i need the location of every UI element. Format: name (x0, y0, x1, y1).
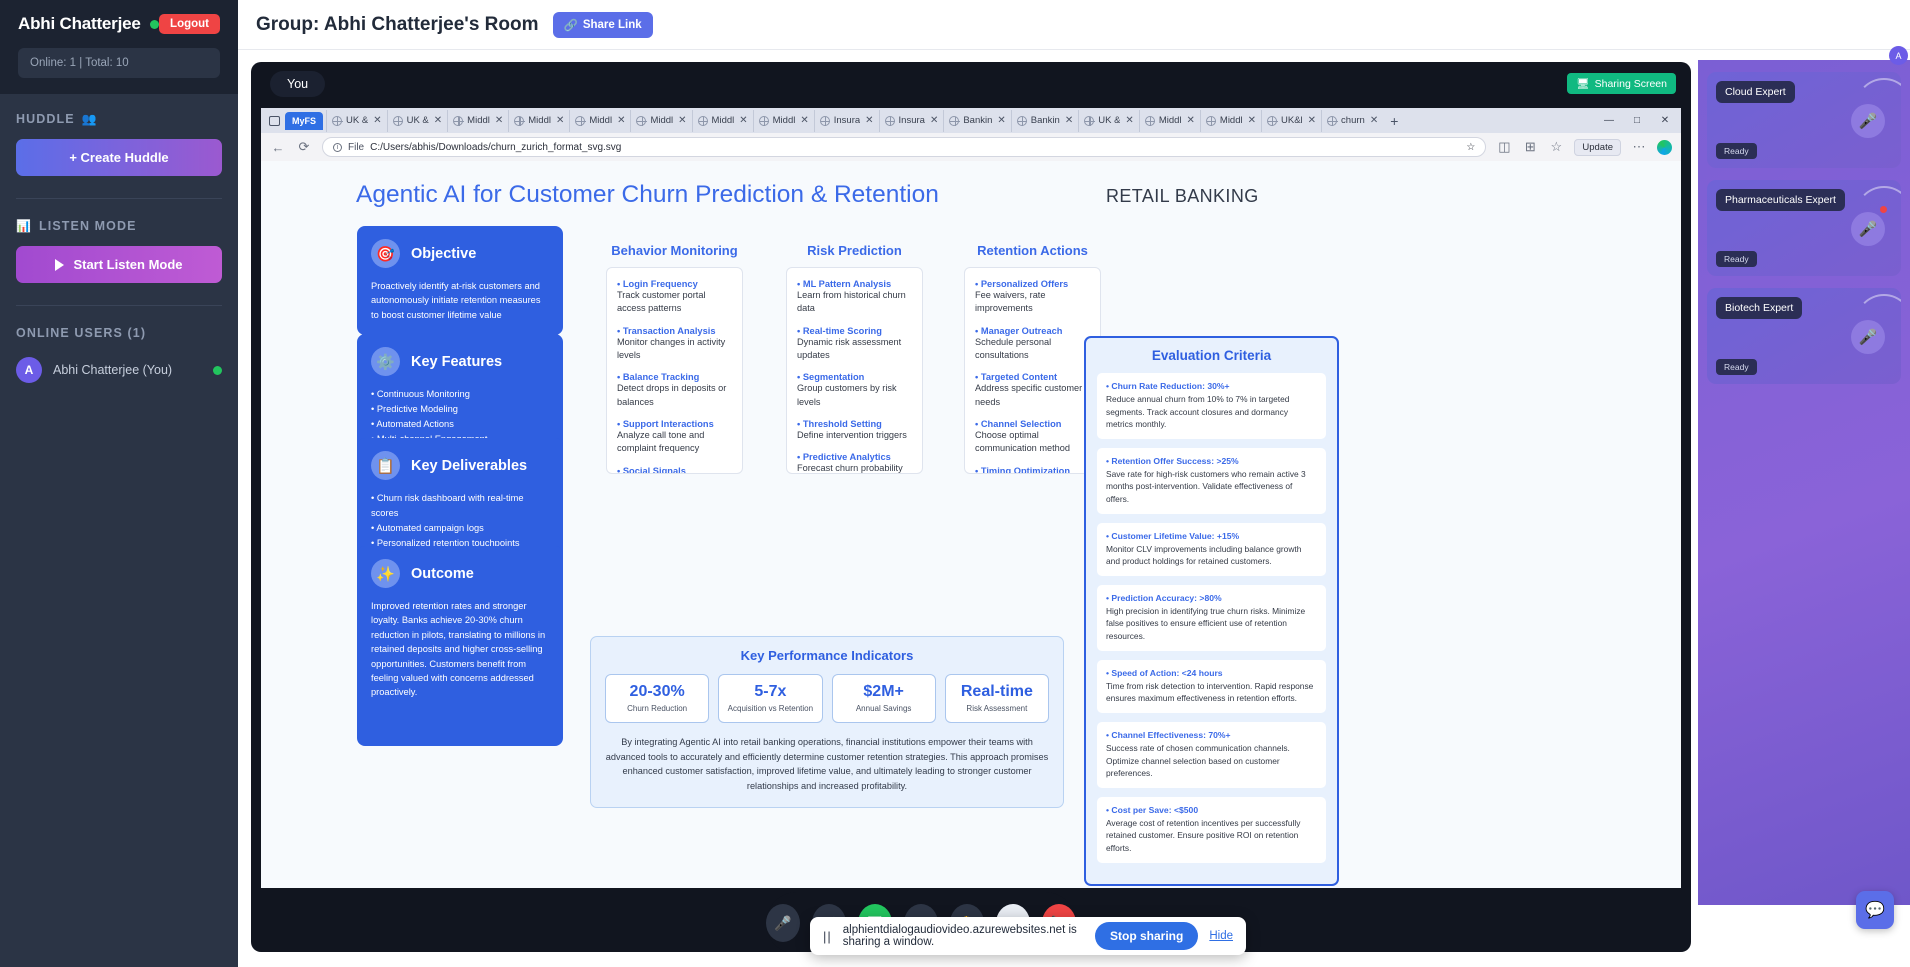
close-icon[interactable]: ✕ (800, 115, 808, 126)
globe-icon (820, 116, 830, 126)
avatar: A (16, 357, 42, 383)
evaluation-item: • Channel Effectiveness: 70%+Success rat… (1097, 722, 1326, 788)
browser-tab[interactable]: UK &✕ (1078, 110, 1139, 132)
expert-name: Biotech Expert (1716, 297, 1802, 319)
window-minimize-button[interactable]: — (1595, 115, 1623, 126)
kpi-label: Churn Reduction (608, 704, 706, 713)
close-icon[interactable]: ✕ (1187, 115, 1195, 126)
close-icon[interactable]: ✕ (495, 115, 503, 126)
evaluation-item-head: • Churn Rate Reduction: 30%+ (1106, 381, 1317, 391)
info-card-body: Improved retention rates and stronger lo… (371, 599, 549, 700)
category-item-desc: Analyze call tone and complaint frequenc… (617, 429, 732, 456)
listen-mode-section-header: 📊 LISTEN MODE (16, 219, 222, 233)
current-user-name: Abhi Chatterjee (18, 14, 141, 34)
kpi-panel: Key Performance Indicators 20-30%Churn R… (590, 636, 1064, 808)
category-item-head: • Login Frequency (617, 279, 732, 289)
category-title: Retention Actions (964, 243, 1101, 258)
evaluation-title: Evaluation Criteria (1097, 348, 1326, 363)
globe-icon (1145, 116, 1155, 126)
category-item-desc: Learn from historical churn data (797, 289, 912, 316)
main-area: Group: Abhi Chatterjee's Room 🔗 Share Li… (238, 0, 1910, 967)
category-item-head: • Social Signals (617, 466, 732, 474)
browser-tab[interactable]: Middl✕ (692, 110, 753, 132)
video-stage: You 🖥 Sharing Screen MyFS UK &✕UK &✕Midd… (251, 62, 1691, 952)
evaluation-item-head: • Retention Offer Success: >25% (1106, 456, 1317, 466)
kpi-footer-text: By integrating Agentic AI into retail ba… (605, 735, 1049, 793)
people-icon: 👥 (82, 112, 98, 126)
info-card: 🎯ObjectiveProactively identify at-risk c… (357, 226, 563, 335)
browser-tab[interactable]: Insura✕ (879, 110, 944, 132)
kpi-box: $2M+Annual Savings (832, 674, 936, 723)
address-bar[interactable]: i File C:/Users/abhis/Downloads/churn_zu… (322, 137, 1486, 157)
experts-rail: Cloud Expert🎤ReadyPharmaceuticals Expert… (1698, 60, 1910, 905)
browser-tab[interactable]: Middl✕ (508, 110, 569, 132)
browser-tab-label: Bankin (963, 115, 992, 126)
globe-icon (759, 116, 769, 126)
close-icon[interactable]: ✕ (556, 115, 564, 126)
browser-tab[interactable]: Bankin✕ (943, 110, 1010, 132)
kpi-row: 20-30%Churn Reduction5-7xAcquisition vs … (605, 674, 1049, 723)
window-close-button[interactable]: ✕ (1651, 115, 1679, 126)
category-column: Behavior Monitoring• Login FrequencyTrac… (606, 243, 743, 474)
app-root: Abhi Chatterjee Logout Online: 1 | Total… (0, 0, 1910, 967)
reload-icon[interactable]: ⟳ (296, 139, 312, 155)
browser-tab[interactable]: Middl✕ (753, 110, 814, 132)
user-online-dot-icon (213, 366, 222, 375)
kpi-label: Acquisition vs Retention (721, 704, 819, 713)
new-tab-button[interactable]: + (1383, 113, 1405, 129)
target-icon: 🎯 (371, 239, 400, 268)
browser-tab-label: UK&l (1281, 115, 1303, 126)
category-title: Behavior Monitoring (606, 243, 743, 258)
close-icon[interactable]: ✕ (1065, 115, 1073, 126)
browser-tab[interactable]: Middl✕ (630, 110, 691, 132)
globe-icon (514, 116, 524, 126)
mic-icon[interactable]: 🎤 (1851, 212, 1885, 246)
category-item-head: • Real-time Scoring (797, 326, 912, 336)
category-item-desc: Schedule personal consultations (975, 336, 1090, 363)
play-icon (55, 259, 64, 271)
category-box: • Login FrequencyTrack customer portal a… (606, 267, 743, 474)
category-item-head: • Transaction Analysis (617, 326, 732, 336)
status-badge: 🖥 Sharing Screen (1567, 73, 1676, 94)
globe-icon (636, 116, 646, 126)
kpi-value: $2M+ (835, 683, 933, 701)
expert-status: Ready (1716, 143, 1757, 159)
browser-tab-label: churn (1341, 115, 1365, 126)
info-icon: i (333, 143, 342, 152)
evaluation-item-desc: Time from risk detection to intervention… (1106, 680, 1317, 705)
star-icon[interactable]: ☆ (1466, 142, 1475, 153)
info-card: ✨OutcomeImproved retention rates and str… (357, 546, 563, 746)
close-icon[interactable]: ✕ (1308, 115, 1316, 126)
browser-tab[interactable]: Middl✕ (569, 110, 630, 132)
mic-icon[interactable]: 🎤 (1851, 104, 1885, 138)
browser-tab-label: Middl (1220, 115, 1243, 126)
category-item-head: • Support Interactions (617, 419, 732, 429)
close-icon[interactable]: ✕ (930, 115, 938, 126)
start-listen-mode-button[interactable]: Start Listen Mode (16, 246, 222, 283)
browser-tab-label: Middl (773, 115, 796, 126)
evaluation-criteria-panel: Evaluation Criteria • Churn Rate Reducti… (1084, 336, 1339, 886)
chart-icon: 📊 (16, 219, 32, 233)
info-card-bullet: • Churn risk dashboard with real-time sc… (371, 491, 549, 521)
close-icon[interactable]: ✕ (997, 115, 1005, 126)
close-icon[interactable]: ✕ (1125, 115, 1133, 126)
browser-tab-label: Middl (712, 115, 735, 126)
category-title: Risk Prediction (786, 243, 923, 258)
expert-status: Ready (1716, 251, 1757, 267)
browser-tab-label: UK & (1098, 115, 1120, 126)
arrow-left-icon[interactable]: ← (270, 140, 286, 155)
kpi-label: Annual Savings (835, 704, 933, 713)
category-item-desc: Monitor changes in activity levels (617, 336, 732, 363)
presence-stats: Online: 1 | Total: 10 (18, 48, 220, 78)
kpi-value: 5-7x (721, 683, 819, 701)
window-controls: — □ ✕ (1595, 115, 1679, 126)
category-item-head: • Segmentation (797, 372, 912, 382)
info-card-bullet: • Automated campaign logs (371, 521, 549, 536)
share-link-label: Share Link (583, 19, 642, 31)
huddle-section-header: HUDDLE 👥 (16, 112, 222, 126)
browser-tab-label: UK & (407, 115, 429, 126)
expert-name: Pharmaceuticals Expert (1716, 189, 1845, 211)
browser-tab-label: Bankin (1031, 115, 1060, 126)
browser-nav-bar: ← ⟳ i File C:/Users/abhis/Downloads/chur… (261, 133, 1681, 161)
kpi-box: 5-7xAcquisition vs Retention (718, 674, 822, 723)
browser-tab[interactable]: UK &✕ (387, 110, 448, 132)
top-bar: Group: Abhi Chatterjee's Room 🔗 Share Li… (238, 0, 1910, 50)
category-item-desc: Track customer portal access patterns (617, 289, 732, 316)
close-icon[interactable]: ✕ (434, 115, 442, 126)
evaluation-item-desc: Average cost of retention incentives per… (1106, 817, 1317, 855)
category-item-head: • Predictive Analytics (797, 452, 912, 462)
category-item-head: • Personalized Offers (975, 279, 1090, 289)
evaluation-item-desc: High precision in identifying true churn… (1106, 605, 1317, 643)
address-bar-url: C:/Users/abhis/Downloads/churn_zurich_fo… (370, 142, 621, 153)
browser-tab-label: Insura (834, 115, 860, 126)
info-card-bullet: • Automated Actions (371, 417, 549, 432)
doc-sector-label: RETAIL BANKING (1106, 186, 1259, 207)
info-card-title: Objective (411, 246, 476, 262)
evaluation-item-desc: Success rate of chosen communication cha… (1106, 742, 1317, 780)
browser-tab-label: Middl (1159, 115, 1182, 126)
online-user-name: Abhi Chatterjee (You) (53, 363, 202, 377)
shared-document: Agentic AI for Customer Churn Prediction… (261, 161, 1681, 888)
category-column: Retention Actions• Personalized OffersFe… (964, 243, 1101, 474)
globe-icon (453, 116, 463, 126)
evaluation-item-head: • Channel Effectiveness: 70%+ (1106, 730, 1317, 740)
category-item-desc: Group customers by risk levels (797, 382, 912, 409)
chat-icon[interactable]: 💬 (1856, 891, 1894, 929)
browser-tab-label: Middl (467, 115, 490, 126)
sidebar: Abhi Chatterjee Logout Online: 1 | Total… (0, 0, 238, 967)
expert-name: Cloud Expert (1716, 81, 1795, 103)
evaluation-item-desc: Save rate for high-risk customers who re… (1106, 468, 1317, 506)
info-card-bullet: • Predictive Modeling (371, 402, 549, 417)
category-column: Risk Prediction• ML Pattern AnalysisLear… (786, 243, 923, 474)
link-icon: 🔗 (564, 18, 578, 32)
category-item-desc: Detect drops in deposits or balances (617, 382, 732, 409)
category-item-desc: Choose optimal communication method (975, 429, 1090, 456)
category-item-head: • Timing Optimization (975, 466, 1090, 474)
category-item-desc: Forecast churn probability (797, 462, 912, 474)
page-title: Group: Abhi Chatterjee's Room (256, 14, 539, 36)
browser-tab-label: UK & (346, 115, 368, 126)
evaluation-item: • Churn Rate Reduction: 30%+Reduce annua… (1097, 373, 1326, 439)
category-item-desc: Address specific customer needs (975, 382, 1090, 409)
globe-icon (1017, 116, 1027, 126)
screen-icon: 🖥 (1576, 77, 1589, 90)
globe-icon (885, 116, 895, 126)
globe-icon (1084, 116, 1094, 126)
info-card-bullet: • Continuous Monitoring (371, 387, 549, 402)
category-item-desc: Fee waivers, rate improvements (975, 289, 1090, 316)
category-item-head: • Balance Tracking (617, 372, 732, 382)
info-card-body: Proactively identify at-risk customers a… (371, 279, 549, 322)
shared-browser-window: MyFS UK &✕UK &✕Middl✕Middl✕Middl✕Middl✕M… (261, 108, 1681, 888)
evaluation-item: • Retention Offer Success: >25%Save rate… (1097, 448, 1326, 514)
close-icon[interactable]: ✕ (373, 115, 381, 126)
expert-card[interactable]: Cloud Expert🎤Ready (1707, 72, 1901, 168)
close-icon[interactable]: ✕ (617, 115, 625, 126)
omnibox-scheme-badge: File (348, 142, 364, 153)
sidebar-body: HUDDLE 👥 + Create Huddle 📊 LISTEN MODE S… (0, 94, 238, 383)
browser-tab-label: Middl (528, 115, 551, 126)
globe-icon (332, 116, 342, 126)
stage-header: You 🖥 Sharing Screen (251, 62, 1691, 108)
sharing-screen-label: Sharing Screen (1595, 78, 1667, 90)
logout-button[interactable]: Logout (159, 14, 220, 34)
category-box: • ML Pattern AnalysisLearn from historic… (786, 267, 923, 474)
browser-tab-label: Middl (650, 115, 673, 126)
category-item-desc: Define intervention triggers (797, 429, 912, 442)
rail-corner-avatar[interactable]: A (1889, 46, 1908, 65)
browser-tab-label: Middl (589, 115, 612, 126)
evaluation-item: • Prediction Accuracy: >80%High precisio… (1097, 585, 1326, 651)
ellipsis-icon[interactable]: ⋯ (1631, 139, 1647, 155)
globe-icon (949, 116, 959, 126)
globe-icon (698, 116, 708, 126)
category-item-desc: Dynamic risk assessment updates (797, 336, 912, 363)
evaluation-item-head: • Customer Lifetime Value: +15% (1106, 531, 1317, 541)
browser-tab[interactable]: Middl✕ (1200, 110, 1261, 132)
browser-tab[interactable]: churn✕ (1321, 110, 1383, 132)
online-user-item[interactable]: A Abhi Chatterjee (You) (16, 357, 222, 383)
sidebar-divider-2 (16, 305, 222, 306)
kpi-label: Risk Assessment (948, 704, 1046, 713)
edge-profile-icon[interactable] (1657, 140, 1672, 155)
expert-card[interactable]: Biotech Expert🎤Ready (1707, 288, 1901, 384)
globe-icon (393, 116, 403, 126)
kpi-value: 20-30% (608, 683, 706, 701)
huddle-section-label: HUDDLE (16, 112, 75, 126)
browser-tab[interactable]: UK &✕ (326, 110, 387, 132)
tab-list-icon[interactable] (263, 108, 285, 133)
sidebar-header: Abhi Chatterjee Logout Online: 1 | Total… (0, 0, 238, 94)
clipboard-icon: 📋 (371, 451, 400, 480)
toast-message: alphientdialogaudiovideo.azurewebsites.n… (843, 924, 1084, 948)
evaluation-item: • Cost per Save: <$500Average cost of re… (1097, 797, 1326, 863)
evaluation-item-desc: Monitor CLV improvements including balan… (1106, 543, 1317, 568)
tab-myfs[interactable]: MyFS (285, 112, 323, 130)
gear-icon: ⚙️ (371, 347, 400, 376)
start-listen-mode-label: Start Listen Mode (73, 257, 182, 272)
expert-card[interactable]: Pharmaceuticals Expert🎤Ready (1707, 180, 1901, 276)
category-box: • Personalized OffersFee waivers, rate i… (964, 267, 1101, 474)
close-icon[interactable]: ✕ (678, 115, 686, 126)
browser-tab[interactable]: Bankin✕ (1011, 110, 1078, 132)
close-icon[interactable]: ✕ (1248, 115, 1256, 126)
sparkles-icon: ✨ (371, 559, 400, 588)
self-tile-label: You (270, 71, 325, 97)
close-icon[interactable]: ✕ (865, 115, 873, 126)
hide-toast-link[interactable]: Hide (1209, 930, 1233, 942)
category-item-head: • Channel Selection (975, 419, 1090, 429)
browser-tab[interactable]: Middl✕ (447, 110, 508, 132)
create-huddle-button[interactable]: + Create Huddle (16, 139, 222, 176)
kpi-title: Key Performance Indicators (605, 648, 1049, 663)
kpi-value: Real-time (948, 683, 1046, 701)
share-link-button[interactable]: 🔗 Share Link (553, 12, 653, 38)
mic-icon[interactable]: 🎤 (766, 904, 800, 942)
category-item-head: • Targeted Content (975, 372, 1090, 382)
drag-handle-icon[interactable]: || (823, 929, 832, 944)
evaluation-item-head: • Speed of Action: <24 hours (1106, 668, 1317, 678)
screen-share-toast: || alphientdialogaudiovideo.azurewebsite… (810, 917, 1246, 955)
listen-mode-section-label: LISTEN MODE (39, 219, 137, 233)
favorites-icon[interactable]: ☆ (1548, 139, 1564, 155)
kpi-box: 20-30%Churn Reduction (605, 674, 709, 723)
info-card-body: • Churn risk dashboard with real-time sc… (371, 491, 549, 551)
category-item-head: • Manager Outreach (975, 326, 1090, 336)
globe-icon (1267, 116, 1277, 126)
split-screen-icon[interactable]: ◫ (1496, 139, 1512, 155)
kpi-box: Real-timeRisk Assessment (945, 674, 1049, 723)
collections-icon[interactable]: ⊞ (1522, 139, 1538, 155)
evaluation-items: • Churn Rate Reduction: 30%+Reduce annua… (1097, 373, 1326, 863)
info-card-title: Outcome (411, 566, 474, 582)
browser-tab[interactable]: UK&l✕ (1261, 110, 1321, 132)
evaluation-item-head: • Prediction Accuracy: >80% (1106, 593, 1317, 603)
evaluation-item-desc: Reduce annual churn from 10% to 7% in ta… (1106, 393, 1317, 431)
close-icon[interactable]: ✕ (739, 115, 747, 126)
mic-icon[interactable]: 🎤 (1851, 320, 1885, 354)
evaluation-item: • Speed of Action: <24 hoursTime from ri… (1097, 660, 1326, 713)
window-maximize-button[interactable]: □ (1623, 115, 1651, 126)
browser-tab[interactable]: Insura✕ (814, 110, 879, 132)
update-button[interactable]: Update (1574, 139, 1621, 156)
info-card-title: Key Deliverables (411, 458, 527, 474)
browser-tab-label: Insura (899, 115, 925, 126)
category-item-head: • ML Pattern Analysis (797, 279, 912, 289)
notification-badge (1880, 206, 1887, 213)
online-dot-icon (150, 20, 159, 29)
globe-icon (575, 116, 585, 126)
evaluation-item: • Customer Lifetime Value: +15%Monitor C… (1097, 523, 1326, 576)
close-icon[interactable]: ✕ (1370, 115, 1378, 126)
globe-icon (1327, 116, 1337, 126)
sidebar-divider-1 (16, 198, 222, 199)
doc-title: Agentic AI for Customer Churn Prediction… (356, 181, 939, 209)
info-card-title: Key Features (411, 354, 502, 370)
browser-tab[interactable]: Middl✕ (1139, 110, 1200, 132)
expert-status: Ready (1716, 359, 1757, 375)
stop-sharing-button[interactable]: Stop sharing (1095, 922, 1198, 950)
online-users-section-header: ONLINE USERS (1) (16, 326, 222, 340)
globe-icon (1206, 116, 1216, 126)
browser-tab-strip: MyFS UK &✕UK &✕Middl✕Middl✕Middl✕Middl✕M… (261, 108, 1681, 133)
category-item-head: • Threshold Setting (797, 419, 912, 429)
evaluation-item-head: • Cost per Save: <$500 (1106, 805, 1317, 815)
